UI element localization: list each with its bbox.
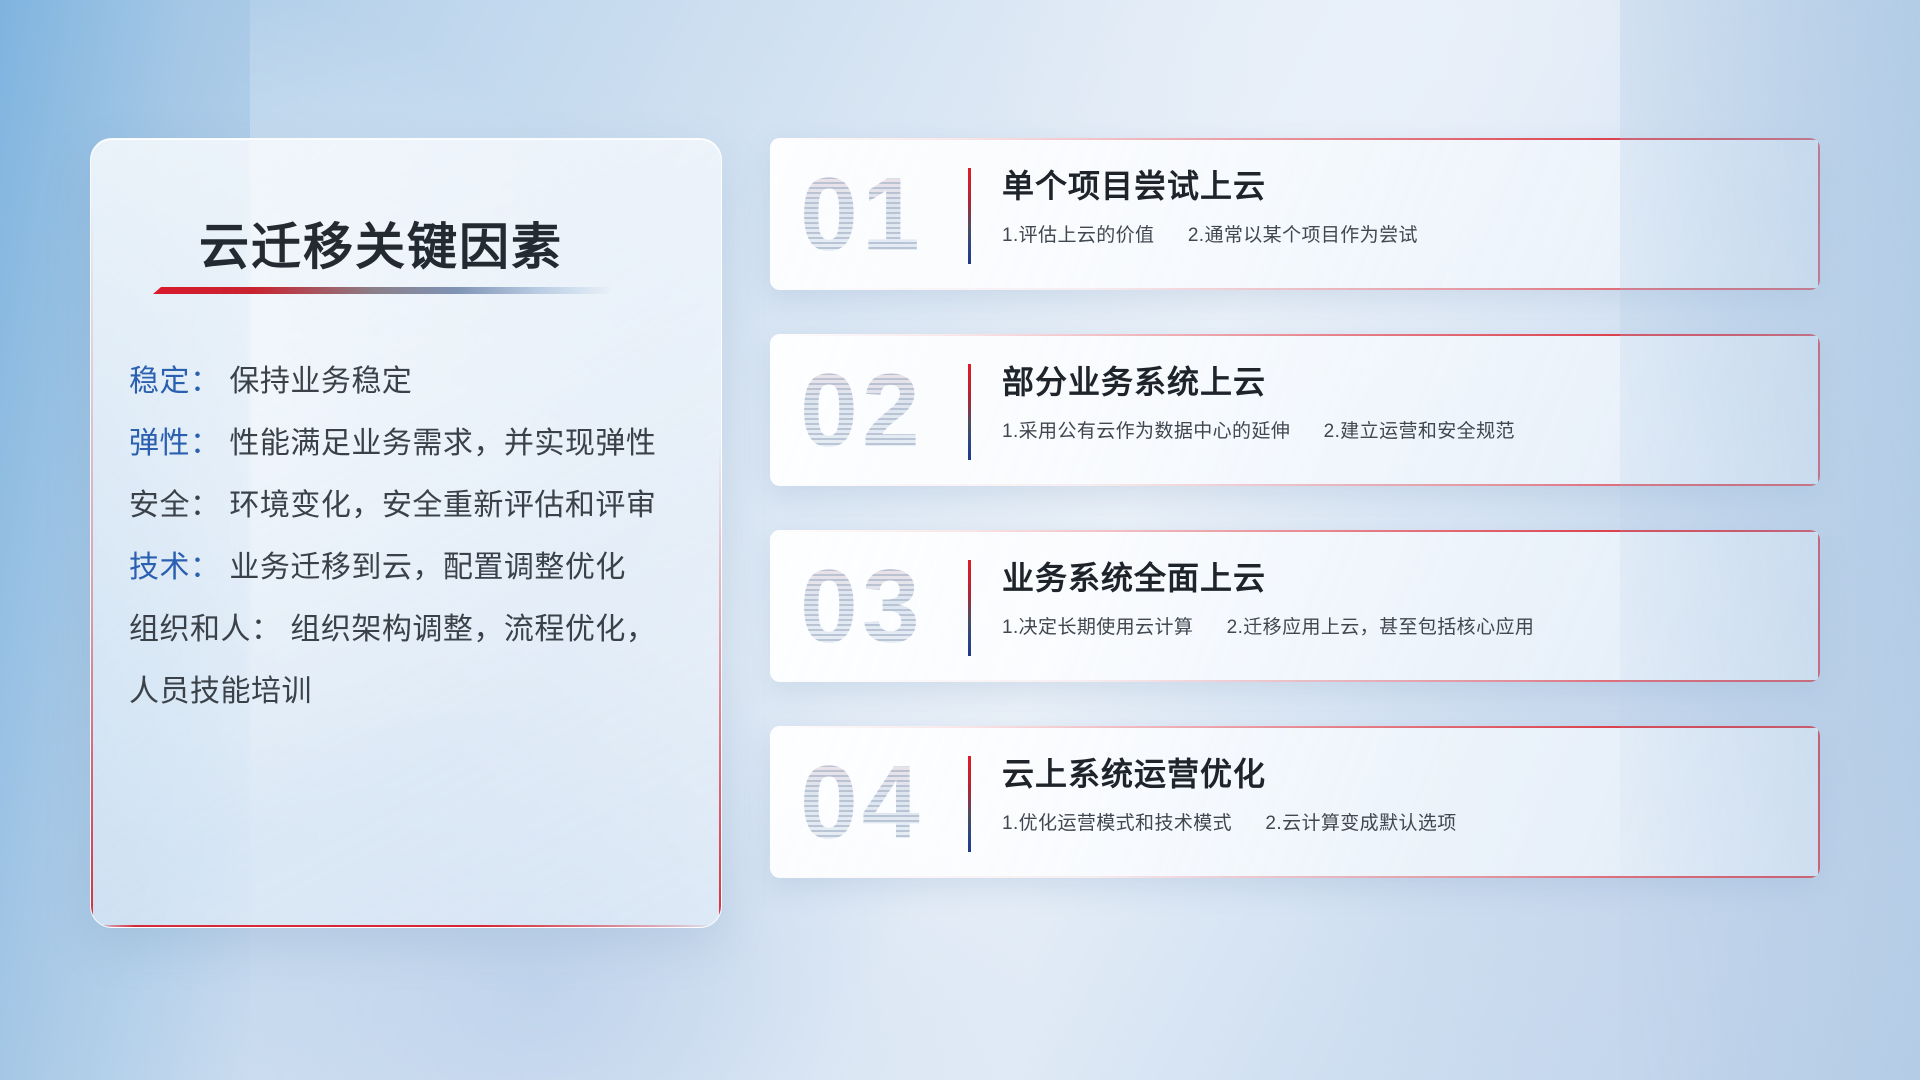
stage-point-2: 2.建立运营和安全规范 bbox=[1324, 421, 1515, 442]
stage-number: 01 bbox=[800, 152, 980, 278]
stage-body: 云上系统运营优化 1.优化运营模式和技术模式 2.云计算变成默认选项 bbox=[1002, 752, 1794, 838]
migration-stages-list: 01 单个项目尝试上云 1.评估上云的价值 2.通常以某个项目作为尝试 02 部… bbox=[770, 138, 1820, 922]
factor-label: 弹性： bbox=[129, 427, 221, 460]
stage-divider-bar bbox=[968, 560, 971, 656]
title-underline-gradient bbox=[153, 287, 613, 294]
stage-point-2: 2.云计算变成默认选项 bbox=[1265, 813, 1456, 834]
stage-points: 1.采用公有云作为数据中心的延伸 2.建立运营和安全规范 bbox=[1002, 418, 1794, 446]
stage-points: 1.决定长期使用云计算 2.迁移应用上云，甚至包括核心应用 bbox=[1002, 614, 1794, 642]
stage-points: 1.评估上云的价值 2.通常以某个项目作为尝试 bbox=[1002, 222, 1794, 250]
stage-card-02[interactable]: 02 部分业务系统上云 1.采用公有云作为数据中心的延伸 2.建立运营和安全规范 bbox=[770, 334, 1820, 486]
card-bottom-accent bbox=[770, 876, 1820, 878]
card-right-accent bbox=[1818, 334, 1820, 486]
stage-point-2: 2.通常以某个项目作为尝试 bbox=[1188, 225, 1418, 246]
stage-title: 单个项目尝试上云 bbox=[1002, 164, 1794, 208]
stage-points: 1.优化运营模式和技术模式 2.云计算变成默认选项 bbox=[1002, 810, 1794, 838]
list-item: 稳定： 保持业务稳定 bbox=[129, 351, 691, 413]
stage-title: 业务系统全面上云 bbox=[1002, 556, 1794, 600]
page-title: 云迁移关键因素 bbox=[199, 207, 563, 279]
stage-number: 03 bbox=[800, 544, 980, 670]
slide-canvas: 云迁移关键因素 稳定： 保持业务稳定 弹性： 性能满足业务需求，并实现弹性 安全… bbox=[0, 0, 1920, 1080]
stage-divider-bar bbox=[968, 168, 971, 264]
factor-label: 稳定： bbox=[129, 365, 221, 398]
factor-value: 业务迁移到云，配置调整优化 bbox=[229, 551, 626, 584]
panel-right-accent-line bbox=[719, 439, 721, 927]
list-item: 安全： 环境变化，安全重新评估和评审 bbox=[129, 475, 691, 537]
list-item: 技术： 业务迁移到云，配置调整优化 bbox=[129, 537, 691, 599]
card-top-accent bbox=[770, 334, 1820, 336]
card-top-accent bbox=[770, 530, 1820, 532]
stage-point-1: 1.评估上云的价值 bbox=[1002, 225, 1154, 246]
factor-label: 安全： bbox=[129, 489, 221, 522]
factor-value: 环境变化，安全重新评估和评审 bbox=[229, 489, 656, 522]
card-right-accent bbox=[1818, 726, 1820, 878]
stage-card-03[interactable]: 03 业务系统全面上云 1.决定长期使用云计算 2.迁移应用上云，甚至包括核心应… bbox=[770, 530, 1820, 682]
card-bottom-accent bbox=[770, 680, 1820, 682]
stage-point-2: 2.迁移应用上云，甚至包括核心应用 bbox=[1227, 617, 1535, 638]
factor-list: 稳定： 保持业务稳定 弹性： 性能满足业务需求，并实现弹性 安全： 环境变化，安… bbox=[129, 351, 691, 723]
stage-number: 04 bbox=[800, 740, 980, 866]
card-right-accent bbox=[1818, 530, 1820, 682]
stage-point-1: 1.采用公有云作为数据中心的延伸 bbox=[1002, 421, 1290, 442]
stage-body: 业务系统全面上云 1.决定长期使用云计算 2.迁移应用上云，甚至包括核心应用 bbox=[1002, 556, 1794, 642]
card-bottom-accent bbox=[770, 484, 1820, 486]
stage-body: 部分业务系统上云 1.采用公有云作为数据中心的延伸 2.建立运营和安全规范 bbox=[1002, 360, 1794, 446]
card-top-accent bbox=[770, 726, 1820, 728]
factor-value: 组织架构调整，流程优化， bbox=[290, 613, 656, 646]
key-factors-panel: 云迁移关键因素 稳定： 保持业务稳定 弹性： 性能满足业务需求，并实现弹性 安全… bbox=[90, 138, 722, 928]
panel-left-accent-line bbox=[91, 199, 93, 927]
stage-body: 单个项目尝试上云 1.评估上云的价值 2.通常以某个项目作为尝试 bbox=[1002, 164, 1794, 250]
list-item: 弹性： 性能满足业务需求，并实现弹性 bbox=[129, 413, 691, 475]
card-bottom-accent bbox=[770, 288, 1820, 290]
factor-label: 组织和人： bbox=[129, 613, 282, 646]
factor-value: 保持业务稳定 bbox=[229, 365, 412, 398]
factor-value-continuation: 人员技能培训 bbox=[129, 661, 691, 723]
card-right-accent bbox=[1818, 138, 1820, 290]
list-item: 组织和人： 组织架构调整，流程优化， bbox=[129, 599, 691, 661]
stage-divider-bar bbox=[968, 756, 971, 852]
stage-divider-bar bbox=[968, 364, 971, 460]
stage-card-01[interactable]: 01 单个项目尝试上云 1.评估上云的价值 2.通常以某个项目作为尝试 bbox=[770, 138, 1820, 290]
stage-title: 云上系统运营优化 bbox=[1002, 752, 1794, 796]
stage-title: 部分业务系统上云 bbox=[1002, 360, 1794, 404]
factor-value: 性能满足业务需求，并实现弹性 bbox=[229, 427, 656, 460]
stage-point-1: 1.优化运营模式和技术模式 bbox=[1002, 813, 1232, 834]
factor-label: 技术： bbox=[129, 551, 221, 584]
card-top-accent bbox=[770, 138, 1820, 140]
stage-card-04[interactable]: 04 云上系统运营优化 1.优化运营模式和技术模式 2.云计算变成默认选项 bbox=[770, 726, 1820, 878]
stage-number: 02 bbox=[800, 348, 980, 474]
stage-point-1: 1.决定长期使用云计算 bbox=[1002, 617, 1193, 638]
